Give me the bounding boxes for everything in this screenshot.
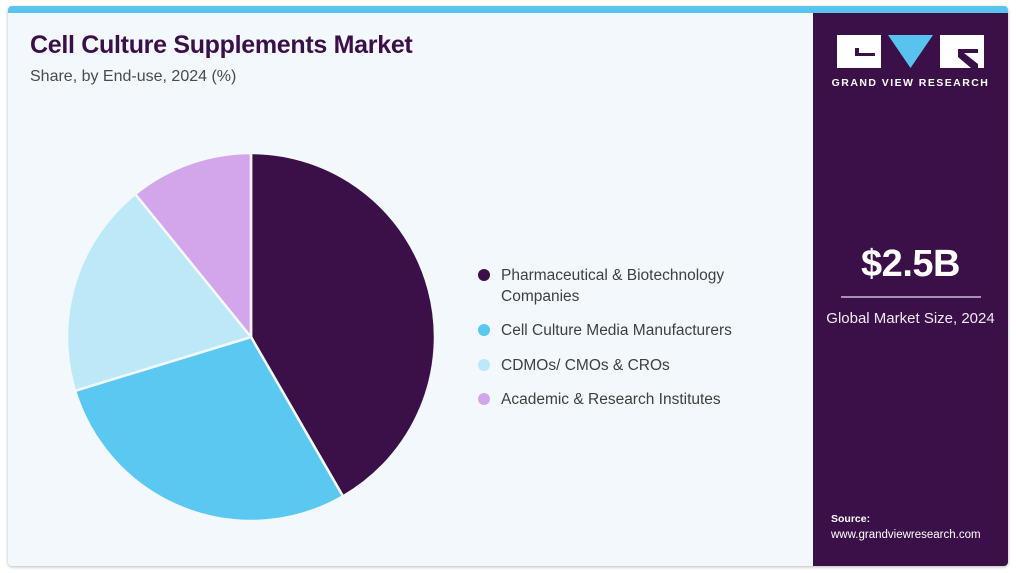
legend-item[interactable]: CDMOs/ CMOs & CROs	[478, 355, 798, 376]
market-size-stat: $2.5B Global Market Size, 2024	[813, 245, 1008, 329]
chart-panel: Cell Culture Supplements Market Share, b…	[8, 13, 813, 566]
source-label: Source:	[831, 512, 1006, 527]
infographic-card: Cell Culture Supplements Market Share, b…	[8, 6, 1008, 566]
legend-item[interactable]: Cell Culture Media Manufacturers	[478, 320, 798, 341]
pie-chart-svg	[59, 145, 443, 529]
legend-swatch-icon	[478, 359, 490, 371]
top-accent-bar	[8, 6, 1008, 13]
legend-swatch-icon	[478, 269, 490, 281]
source-url[interactable]: www.grandviewresearch.com	[831, 527, 1006, 544]
legend-item[interactable]: Academic & Research Institutes	[478, 389, 798, 410]
legend-swatch-icon	[478, 393, 490, 405]
legend-item-label: Cell Culture Media Manufacturers	[501, 320, 732, 341]
logo-marks	[837, 35, 984, 68]
logo-wordmark: GRAND VIEW RESEARCH	[813, 77, 1008, 89]
page-subtitle: Share, by End-use, 2024 (%)	[30, 67, 730, 86]
legend-swatch-icon	[478, 324, 490, 336]
brand-logo: GRAND VIEW RESEARCH	[813, 35, 1008, 89]
logo-letter-v-icon	[888, 35, 933, 68]
brand-sidebar: GRAND VIEW RESEARCH $2.5B Global Market …	[813, 13, 1008, 566]
legend-item-label: Pharmaceutical & Biotechnology Companies	[501, 265, 766, 307]
chart-legend: Pharmaceutical & Biotechnology Companies…	[478, 265, 798, 423]
legend-item-label: CDMOs/ CMOs & CROs	[501, 355, 670, 376]
logo-letter-g-icon	[837, 35, 881, 68]
market-size-value: $2.5B	[813, 245, 1008, 283]
pie-chart	[59, 145, 443, 529]
stat-divider	[841, 296, 981, 298]
page-title: Cell Culture Supplements Market	[30, 31, 730, 60]
pie-slice-group	[67, 153, 435, 521]
gvr-logo-icon	[837, 35, 984, 68]
title-block: Cell Culture Supplements Market Share, b…	[30, 31, 730, 86]
source-block: Source: www.grandviewresearch.com	[831, 512, 1006, 544]
legend-item-label: Academic & Research Institutes	[501, 389, 721, 410]
market-size-caption: Global Market Size, 2024	[813, 309, 1008, 329]
legend-item[interactable]: Pharmaceutical & Biotechnology Companies	[478, 265, 798, 307]
logo-letter-r-icon	[940, 35, 984, 68]
